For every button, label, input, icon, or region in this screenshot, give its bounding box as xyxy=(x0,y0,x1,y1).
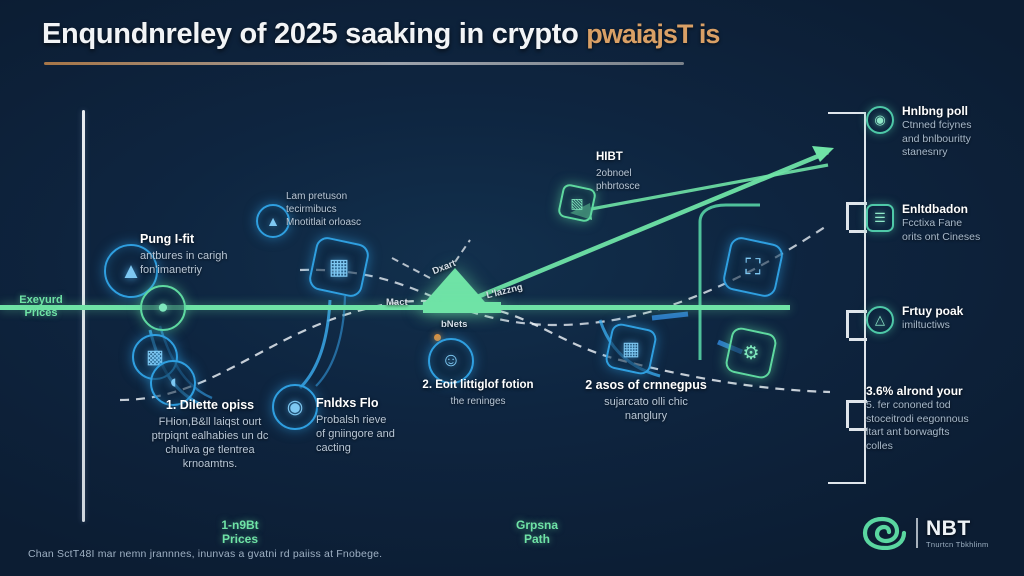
annotation-body: FHion,B&ll laiqst ourt ptrpiqnt ealhabie… xyxy=(120,415,300,471)
bracket-notch xyxy=(849,202,867,205)
title-main: Enqundnreley of 2025 saaking in crypto xyxy=(42,18,579,50)
axis-tick-line2: Path xyxy=(482,532,592,546)
peak-label-left: Mact xyxy=(386,297,408,308)
title-underline xyxy=(44,62,684,65)
document-icon: ☰ xyxy=(866,204,894,232)
annotation-hibt-note: HIBT 2obnoel phbrtosce xyxy=(596,150,706,193)
node-city-icon-upper[interactable]: ▦ xyxy=(312,240,366,294)
annotation-asos-crnnegpus: 2 asos of crnnegpus sujarcato olli chic … xyxy=(556,378,736,423)
coin-icon: ◉ xyxy=(866,106,894,134)
flask-icon: ⚙ xyxy=(728,330,774,376)
legend-item-enltdbadon[interactable]: ☰ Enltdbadon Fcctixa Fane orits ont Cine… xyxy=(866,202,1022,244)
bracket-notch xyxy=(846,202,849,230)
annotation-head: HIBT xyxy=(596,150,706,165)
axis-tick-right: Grpsna Path xyxy=(482,518,592,546)
legend-item-hnlbng-poll[interactable]: ◉ Hnlbng poll Ctnned fciynes and bnlbour… xyxy=(866,104,1022,160)
annotation-body: sujarcato olli chic nanglury xyxy=(556,395,736,423)
axis-tick-line1: 1-n9Bt xyxy=(185,518,295,532)
legend-text: Enltdbadon Fcctixa Fane orits ont Cinese… xyxy=(902,202,1022,244)
logo-name: NBT xyxy=(926,518,989,539)
node-factory-icon[interactable]: ▧ xyxy=(560,186,594,220)
city-icon: ▦ xyxy=(312,240,366,294)
axis-label-left: Exeyurd Prices xyxy=(4,294,78,320)
swirl-logo-icon xyxy=(862,516,908,550)
axis-tick-left: 1-n9Bt Prices xyxy=(185,518,295,546)
annotation-head: 2 asos of crnnegpus xyxy=(556,378,736,393)
legend-head: Enltdbadon xyxy=(902,202,1022,216)
legend-body: 5. fer cononed tod stoceitrodi eegonnous… xyxy=(866,399,1022,453)
bracket-notch xyxy=(849,338,867,341)
bracket-notch xyxy=(849,428,867,431)
annotation-head: 2. Eoit littiglof fotion xyxy=(388,378,568,393)
bracket-notch xyxy=(849,310,867,313)
coin-icon-wrap: ◉ xyxy=(866,106,894,134)
legend-bracket xyxy=(828,112,866,484)
legend-text: 3.6% alrond your 5. fer cononed tod stoc… xyxy=(866,384,1022,453)
document-icon-wrap: ☰ xyxy=(866,204,894,232)
axis-tick-line2: Prices xyxy=(185,532,295,546)
node-city-icon-mid[interactable]: ▦ xyxy=(608,326,654,372)
peak-base xyxy=(423,302,501,313)
annotation-body: 2obnoel phbrtosce xyxy=(596,167,706,193)
annotation-body: Lam pretuson tecirmibucs Mnotitlait orlo… xyxy=(286,190,436,229)
legend-text: Frtuy poak imiltuctiws xyxy=(902,304,1022,334)
bracket-notch xyxy=(849,230,867,233)
logo-text: NBT Tnurtcn Tbkhlinm xyxy=(926,518,989,549)
legend-head: Frtuy poak xyxy=(902,304,1022,318)
chart-peak-icon-wrap: △ xyxy=(866,306,894,334)
axis-tick-line1: Grpsna xyxy=(482,518,592,532)
page-title: Enqundnreley of 2025 saaking in crypto p… xyxy=(42,18,802,51)
annotation-head: Pung I-fit xyxy=(140,232,270,247)
legend-head: 3.6% alrond your xyxy=(866,384,1022,398)
lion-icon: ● xyxy=(140,285,186,331)
infographic-canvas: Enqundnreley of 2025 saaking in crypto p… xyxy=(0,0,1024,576)
title-accent: pwaiajsT is xyxy=(586,19,719,49)
legend-body: imiltuctiws xyxy=(902,319,1022,333)
bracket-notch xyxy=(849,400,867,403)
legend-item-alrond-your[interactable]: 3.6% alrond your 5. fer cononed tod stoc… xyxy=(866,384,1022,453)
node-bank-icon[interactable]: ⛶ xyxy=(726,240,780,294)
annotation-dilette-opiss: 1. Dilette opiss FHion,B&ll laiqst ourt … xyxy=(120,398,300,471)
legend-item-frtuy-poak[interactable]: △ Frtuy poak imiltuctiws xyxy=(866,304,1022,334)
annotation-pung-fit: Pung I-fit antbures in carigh fon'imanet… xyxy=(140,232,270,277)
bank-icon: ⛶ xyxy=(726,240,780,294)
legend-body: Ctnned fciynes and bnlbouritty stanesnry xyxy=(902,119,1022,160)
bracket-notch xyxy=(846,400,849,428)
chart-peak-icon: △ xyxy=(866,306,894,334)
vertical-axis xyxy=(82,110,85,522)
peak-label-below: bNets xyxy=(441,319,467,330)
annotation-body: Probalsh rieve of gniingore and cacting xyxy=(316,413,436,455)
bracket-notch xyxy=(846,310,849,338)
footer-caption: Chan SctT48I mar nemn jrannnes, inunvas … xyxy=(28,548,588,560)
legend-head: Hnlbng poll xyxy=(902,104,1022,118)
node-lion-icon[interactable]: ● xyxy=(140,285,186,331)
title-text: Enqundnreley of 2025 saaking in crypto p… xyxy=(42,18,802,51)
city-icon: ▦ xyxy=(608,326,654,372)
node-flask-icon[interactable]: ⚙ xyxy=(728,330,774,376)
logo-divider xyxy=(916,518,918,548)
logo-tagline: Tnurtcn Tbkhlinm xyxy=(926,540,989,549)
brand-logo[interactable]: NBT Tnurtcn Tbkhlinm xyxy=(862,516,989,550)
annotation-body: antbures in carigh fon'imanetriy xyxy=(140,249,270,277)
annotation-eoit-fotion: 2. Eoit littiglof fotion the reninges xyxy=(388,378,568,408)
annotation-body: the reninges xyxy=(388,395,568,408)
legend-body: Fcctixa Fane orits ont Cineses xyxy=(902,217,1022,244)
legend-text: Hnlbng poll Ctnned fciynes and bnlbourit… xyxy=(902,104,1022,160)
factory-icon: ▧ xyxy=(560,186,594,220)
annotation-lam-pretuson: Lam pretuson tecirmibucs Mnotitlait orlo… xyxy=(286,190,436,229)
annotation-head: 1. Dilette opiss xyxy=(120,398,300,413)
